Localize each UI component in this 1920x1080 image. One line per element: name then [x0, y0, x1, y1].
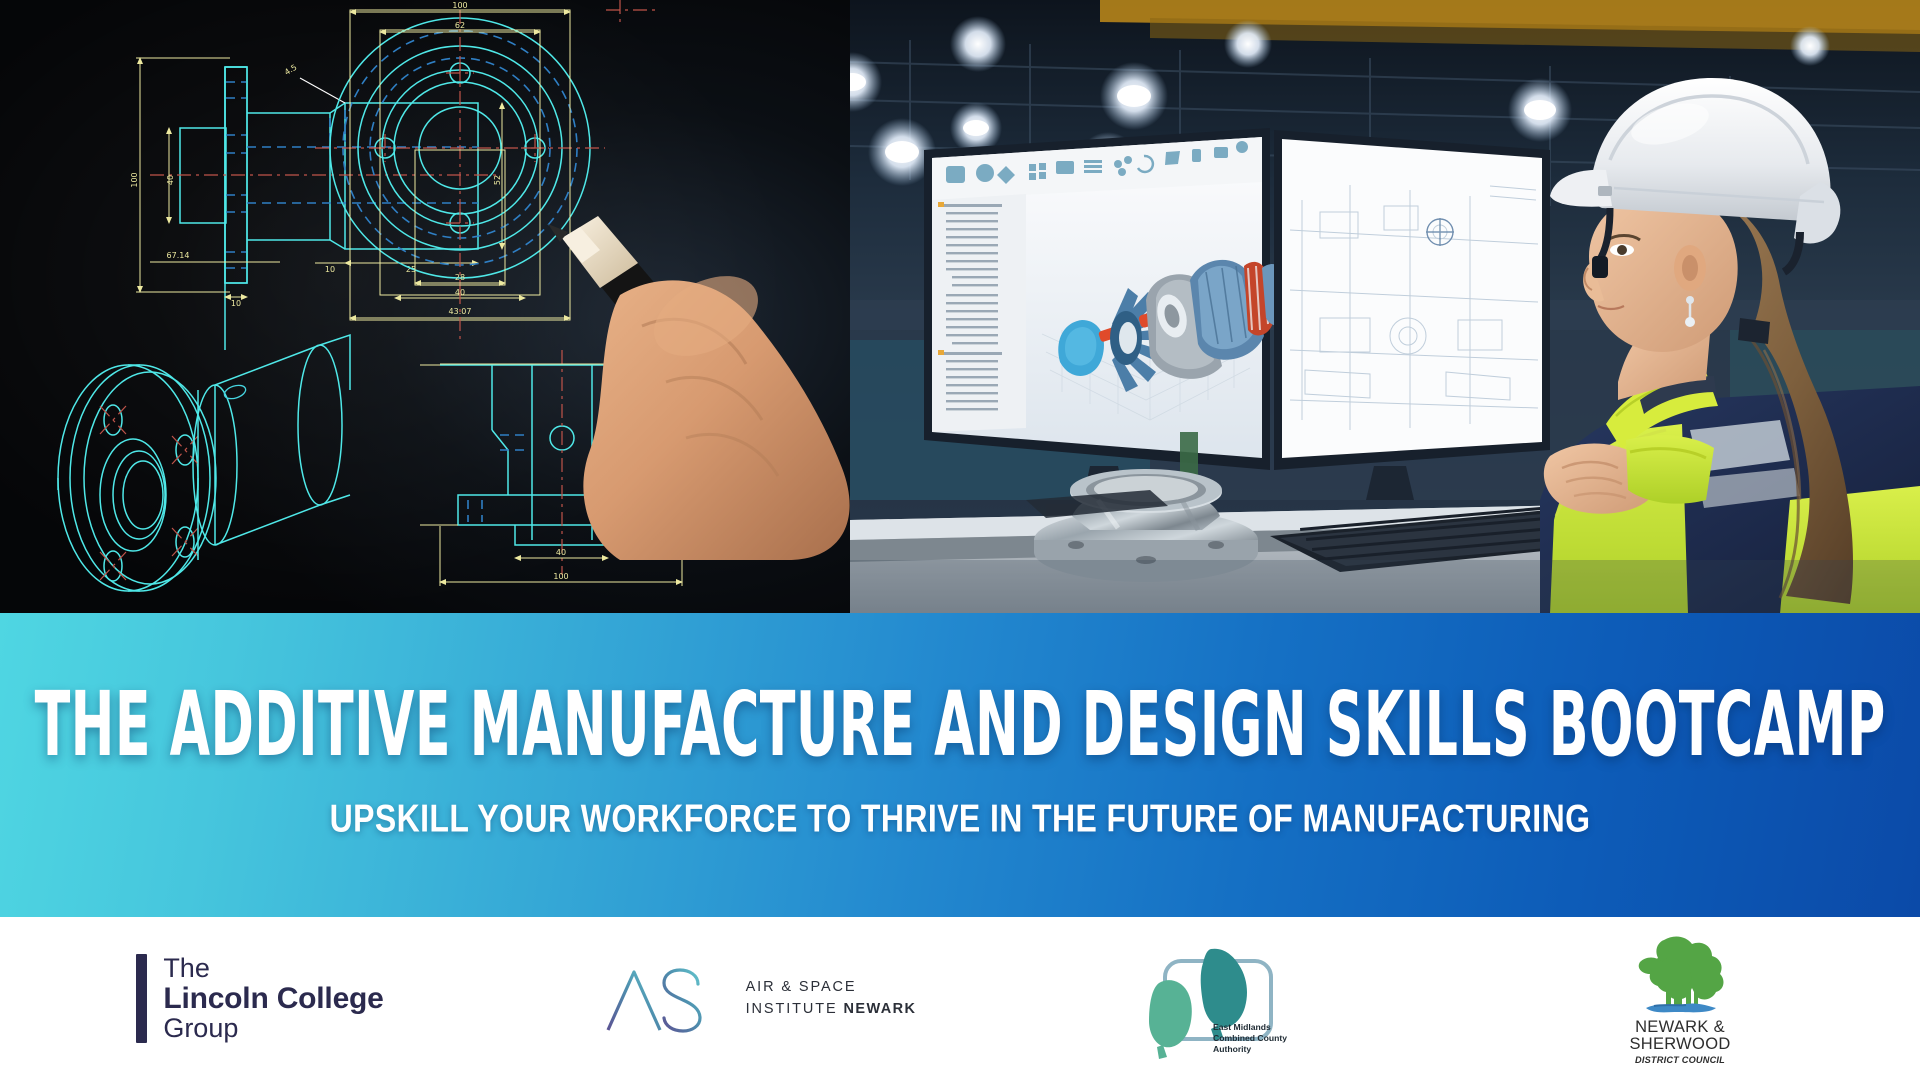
asi-institute-text: INSTITUTE — [746, 1001, 844, 1017]
lincoln-line-3: Group — [163, 1014, 383, 1042]
asi-line-2: INSTITUTE NEWARK — [746, 999, 917, 1020]
emcca-line-3: Authority — [1213, 1044, 1287, 1055]
engineer-workstation-photo — [850, 0, 1920, 614]
svg-text:10: 10 — [325, 265, 335, 274]
cad-technical-drawing-photo: .ln { stroke:#4FE8E8; fill:none; stroke-… — [0, 0, 850, 614]
lincoln-accent-bar — [136, 954, 147, 1042]
svg-text:10: 10 — [683, 506, 692, 516]
emcca-line-2: Combined County — [1213, 1033, 1287, 1044]
svg-text:40: 40 — [166, 175, 175, 185]
svg-text:1.56: 1.56 — [661, 472, 681, 489]
asi-line-1: AIR & SPACE — [746, 977, 917, 998]
logo-lincoln-college-group: The Lincoln College Group — [0, 917, 520, 1080]
lincoln-line-2: Lincoln College — [163, 983, 383, 1015]
svg-text:100: 100 — [130, 172, 139, 187]
partner-logo-bar: The Lincoln College Group — [0, 917, 1920, 1080]
poster-root: .ln { stroke:#4FE8E8; fill:none; stroke-… — [0, 0, 1920, 1080]
emcca-line-1: East Midlands — [1213, 1022, 1287, 1033]
svg-text:4.5: 4.5 — [283, 63, 299, 77]
banner-subtitle: UPSKILL YOUR WORKFORCE TO THRIVE IN THE … — [330, 796, 1591, 841]
asi-monogram-icon — [604, 964, 724, 1034]
hero-image-strip: .ln { stroke:#4FE8E8; fill:none; stroke-… — [0, 0, 1920, 614]
svg-text:100: 100 — [553, 572, 568, 581]
svg-text:67.14: 67.14 — [167, 251, 190, 260]
logo-air-space-institute: AIR & SPACE INSTITUTE NEWARK — [520, 917, 1000, 1080]
newark-tree-icon — [1624, 932, 1736, 1018]
lincoln-line-1: The — [163, 954, 383, 982]
newark-line-1: NEWARK & — [1635, 1019, 1725, 1036]
asi-newark-text: NEWARK — [844, 1001, 917, 1017]
svg-text:10: 10 — [231, 299, 241, 308]
logo-newark-sherwood-council: NEWARK & SHERWOOD DISTRICT COUNCIL — [1440, 917, 1920, 1080]
svg-text:25: 25 — [687, 393, 696, 403]
newark-line-2: SHERWOOD — [1629, 1036, 1730, 1053]
svg-text:67: 67 — [705, 390, 714, 400]
newark-line-3: DISTRICT COUNCIL — [1635, 1055, 1725, 1065]
svg-text:100: 100 — [452, 1, 467, 10]
svg-text:52: 52 — [493, 175, 502, 185]
svg-text:62: 62 — [455, 21, 465, 30]
logo-east-midlands-authority: East Midlands Combined County Authority — [1000, 917, 1440, 1080]
factory-scene-artwork — [850, 0, 1920, 614]
cad-drawing-artwork: .ln { stroke:#4FE8E8; fill:none; stroke-… — [0, 0, 850, 614]
banner: THE ADDITIVE MANUFACTURE AND DESIGN SKIL… — [0, 613, 1920, 917]
svg-text:40: 40 — [556, 548, 566, 557]
banner-title: THE ADDITIVE MANUFACTURE AND DESIGN SKIL… — [34, 680, 1885, 769]
svg-text:28: 28 — [455, 273, 465, 282]
